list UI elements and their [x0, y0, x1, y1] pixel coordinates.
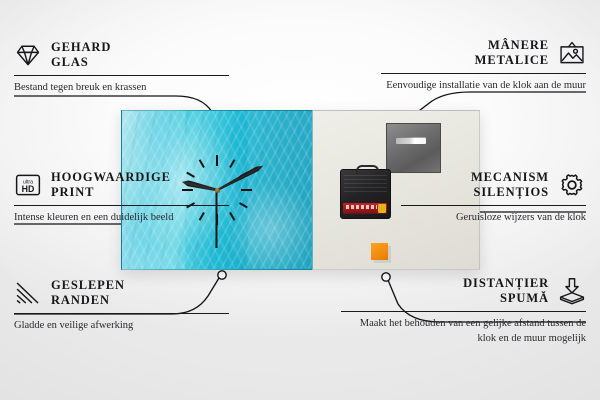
clock-mechanism-box	[340, 169, 391, 219]
feature-header: MÂNEREMETALICE	[381, 38, 586, 69]
battery	[343, 203, 387, 214]
feature-title: MÂNEREMETALICE	[475, 38, 549, 69]
feature-distantier-spuma: DISTANȚIERSPUMĂ Maakt het behouden van e…	[341, 276, 586, 346]
hanger-slot	[396, 137, 426, 144]
feature-description: Eenvoudige installatie van de klok aan d…	[381, 79, 586, 93]
feature-manere-metalice: MÂNEREMETALICE Eenvoudige installatie va…	[381, 38, 586, 94]
foam-spacer	[371, 243, 388, 260]
feature-title: HOOGWAARDIGEPRINT	[51, 170, 171, 201]
feature-title: GESLEPENRANDEN	[51, 278, 125, 309]
feature-divider	[14, 75, 229, 77]
feature-description: Geruisloze wijzers van de klok	[401, 211, 586, 225]
ultra-hd-icon: ultra HD	[14, 171, 42, 199]
feature-title: MECANISMSILENȚIOS	[471, 170, 549, 201]
feature-divider	[381, 73, 586, 75]
feature-header: GEHARDGLAS	[14, 40, 229, 71]
metal-hanger-plate	[386, 123, 441, 173]
feature-header: GESLEPENRANDEN	[14, 278, 229, 309]
feature-divider	[341, 311, 586, 313]
infographic-stage: GEHARDGLAS Bestand tegen breuk en krasse…	[0, 0, 600, 400]
svg-text:HD: HD	[22, 184, 35, 194]
spacer-stack-icon	[558, 277, 586, 305]
feature-description: Gladde en veilige afwerking	[14, 319, 229, 333]
gear-icon	[558, 171, 586, 199]
feature-header: DISTANȚIERSPUMĂ	[341, 276, 586, 307]
battery-label	[346, 205, 377, 209]
diamond-icon	[14, 41, 42, 69]
feature-mecanism-silentios: MECANISMSILENȚIOS Geruisloze wijzers van…	[401, 170, 586, 226]
feature-header: MECANISMSILENȚIOS	[401, 170, 586, 201]
feature-divider	[14, 205, 229, 207]
feature-hoogwaardige-print: ultra HD HOOGWAARDIGEPRINT Intense kleur…	[14, 170, 229, 226]
feature-description: Intense kleuren en een duidelijk beeld	[14, 211, 229, 225]
feature-divider	[401, 205, 586, 207]
feature-title: GEHARDGLAS	[51, 40, 111, 71]
picture-hanger-icon	[558, 39, 586, 67]
feature-header: ultra HD HOOGWAARDIGEPRINT	[14, 170, 229, 201]
feature-description: Bestand tegen breuk en krassen	[14, 81, 229, 95]
battery-positive-terminal	[378, 204, 386, 213]
mechanism-hanger-loop	[356, 165, 379, 174]
beveled-edges-icon	[14, 279, 42, 307]
feature-title: DISTANȚIERSPUMĂ	[463, 276, 549, 307]
mechanism-ridges	[344, 175, 387, 195]
feature-description: Maakt het behouden van een gelijke afsta…	[341, 317, 586, 346]
feature-gehard-glas: GEHARDGLAS Bestand tegen breuk en krasse…	[14, 40, 229, 96]
feature-geslepen-randen: GESLEPENRANDEN Gladde en veilige afwerki…	[14, 278, 229, 334]
feature-divider	[14, 313, 229, 315]
